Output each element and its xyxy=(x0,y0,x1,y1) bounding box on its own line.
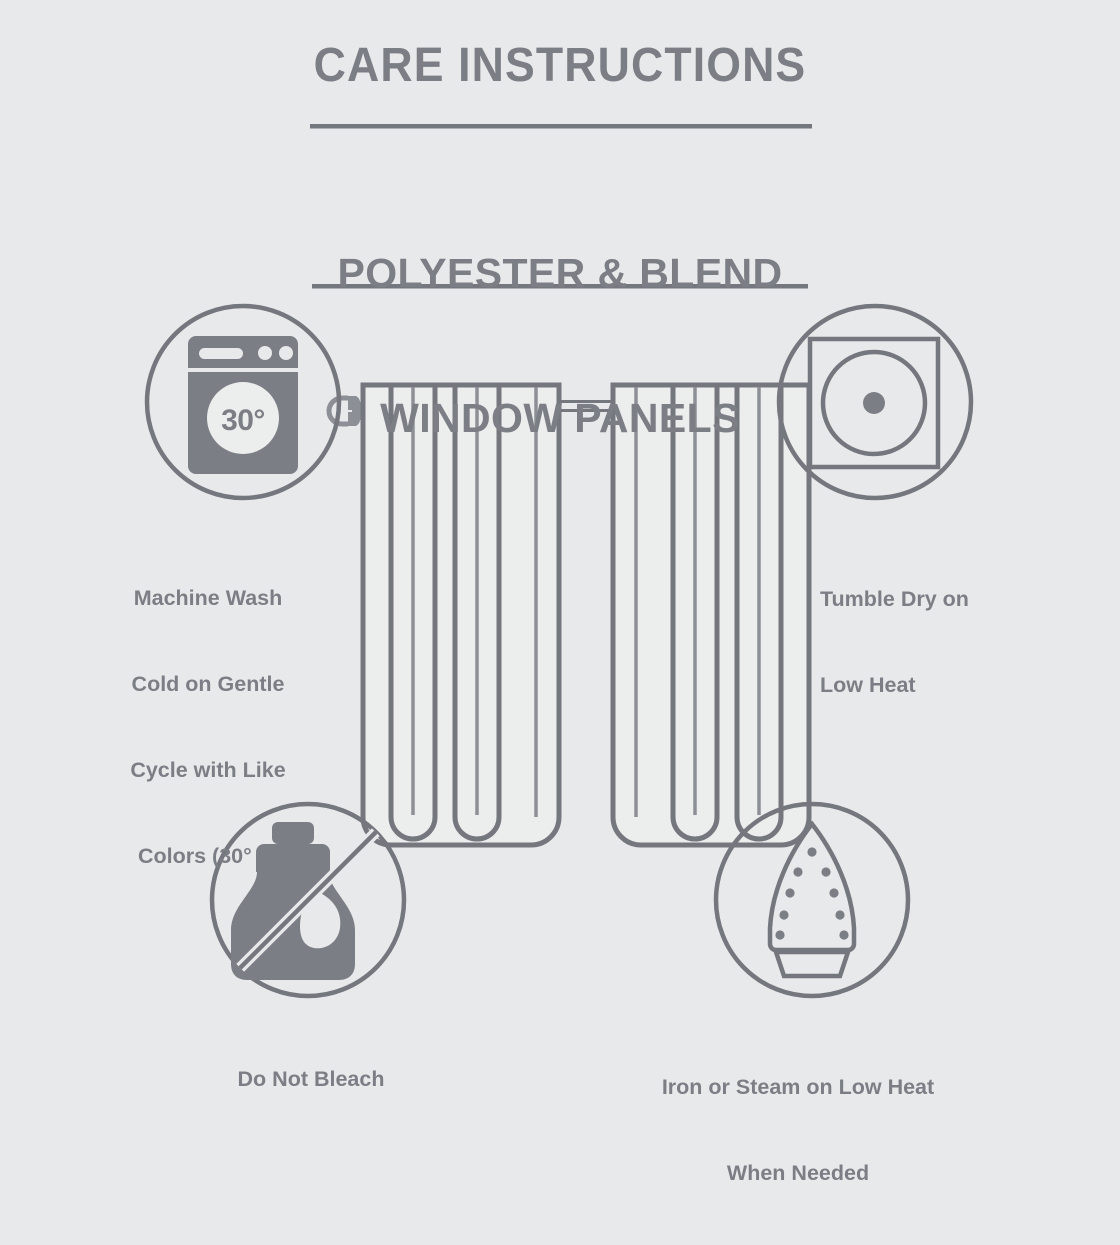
label-machine-wash-line-3: Cycle with Like xyxy=(78,756,338,785)
label-tumble-dry-line-2: Low Heat xyxy=(820,671,1080,700)
label-machine-wash: Machine Wash Cold on Gentle Cycle with L… xyxy=(78,527,338,927)
subtitle-line-2: WINDOW PANELS xyxy=(0,394,1120,442)
divider-under-title xyxy=(310,124,812,129)
subtitle-line-1: POLYESTER & BLEND xyxy=(0,249,1120,297)
label-tumble-dry-line-1: Tumble Dry on xyxy=(820,585,1080,614)
symbol-iron-low-heat xyxy=(716,804,908,996)
page-title: CARE INSTRUCTIONS xyxy=(39,38,1081,95)
page-subtitle: POLYESTER & BLEND WINDOW PANELS xyxy=(0,152,1120,539)
label-machine-wash-line-1: Machine Wash xyxy=(78,584,338,613)
label-machine-wash-line-2: Cold on Gentle xyxy=(78,670,338,699)
care-instructions-infographic: CARE INSTRUCTIONS POLYESTER & BLEND WIND… xyxy=(0,0,1120,1120)
label-do-not-bleach: Do Not Bleach xyxy=(183,1016,439,1143)
label-iron-low-heat: Iron or Steam on Low Heat When Needed xyxy=(596,1016,1000,1245)
wash-temperature-badge: 30° xyxy=(183,403,303,438)
label-do-not-bleach-line-1: Do Not Bleach xyxy=(183,1067,439,1092)
label-tumble-dry: Tumble Dry on Low Heat xyxy=(820,528,1080,757)
label-machine-wash-line-4: Colors (30° F) xyxy=(78,842,338,871)
label-iron-low-heat-line-2: When Needed xyxy=(596,1159,1000,1188)
label-iron-low-heat-line-1: Iron or Steam on Low Heat xyxy=(596,1073,1000,1102)
